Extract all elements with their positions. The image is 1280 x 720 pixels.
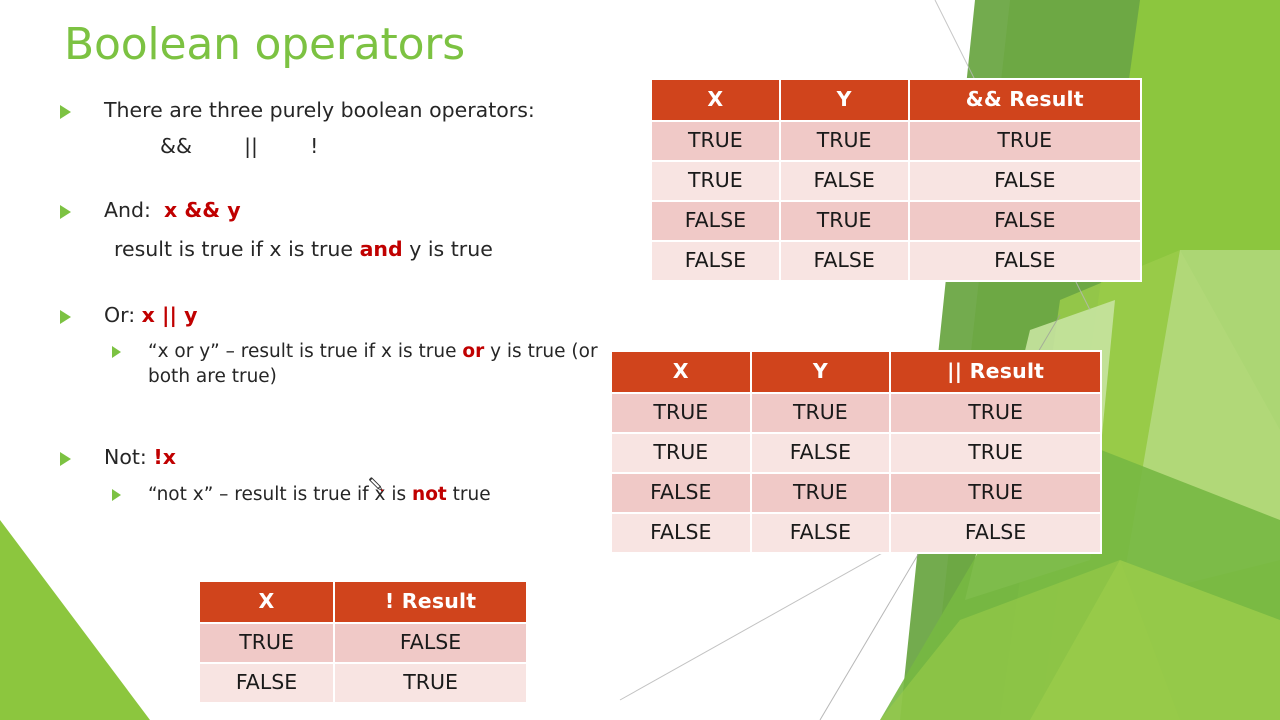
cell-x: TRUE bbox=[612, 434, 750, 472]
table-header-row: X Y && Result bbox=[652, 80, 1140, 120]
or-label: Or: bbox=[104, 303, 135, 327]
and-code: x && y bbox=[164, 198, 241, 222]
table-row: TRUE FALSE FALSE bbox=[652, 162, 1140, 200]
operator-and-symbol: && bbox=[160, 134, 192, 158]
column-header-result: && Result bbox=[910, 80, 1140, 120]
column-header-x: X bbox=[652, 80, 779, 120]
cell-result: FALSE bbox=[335, 624, 526, 662]
bullet-triangle-icon bbox=[60, 96, 86, 119]
cell-y: FALSE bbox=[781, 162, 908, 200]
cell-result: TRUE bbox=[891, 434, 1100, 472]
cell-x: TRUE bbox=[652, 162, 779, 200]
deco-shape-lower-bright bbox=[1030, 560, 1280, 720]
cell-x: TRUE bbox=[612, 394, 750, 432]
cell-x: FALSE bbox=[200, 664, 333, 702]
cell-x: FALSE bbox=[612, 474, 750, 512]
and-truth-table: X Y && Result TRUE TRUE TRUE TRUE FALSE … bbox=[650, 78, 1142, 282]
intro-text: There are three purely boolean operators… bbox=[86, 96, 620, 124]
bullet-and: And: x && y bbox=[60, 196, 620, 224]
not-line: Not: !x bbox=[86, 443, 620, 471]
or-description: “x or y” – result is true if x is true o… bbox=[134, 339, 620, 389]
pen-cursor-icon bbox=[365, 474, 387, 496]
cell-x: FALSE bbox=[652, 202, 779, 240]
or-code: x || y bbox=[142, 303, 198, 327]
operator-or-symbol: || bbox=[244, 134, 258, 158]
table-row: FALSE TRUE FALSE bbox=[652, 202, 1140, 240]
column-header-x: X bbox=[612, 352, 750, 392]
bullet-or: Or: x || y bbox=[60, 301, 620, 329]
cell-y: FALSE bbox=[752, 434, 890, 472]
cell-result: TRUE bbox=[891, 394, 1100, 432]
and-desc-post: y is true bbox=[403, 237, 493, 261]
cell-x: TRUE bbox=[652, 122, 779, 160]
cell-y: TRUE bbox=[781, 202, 908, 240]
not-truth-table: X ! Result TRUE FALSE FALSE TRUE bbox=[198, 580, 528, 704]
slide-body: There are three purely boolean operators… bbox=[60, 96, 620, 507]
or-sub-keyword: or bbox=[462, 341, 484, 362]
cell-result: TRUE bbox=[335, 664, 526, 702]
bullet-triangle-icon bbox=[112, 482, 134, 501]
cell-x: TRUE bbox=[200, 624, 333, 662]
table-row: TRUE FALSE TRUE bbox=[612, 434, 1100, 472]
cell-x: FALSE bbox=[652, 242, 779, 280]
cell-result: FALSE bbox=[891, 514, 1100, 552]
table-row: FALSE FALSE FALSE bbox=[612, 514, 1100, 552]
bullet-triangle-icon bbox=[112, 339, 134, 358]
cell-y: FALSE bbox=[781, 242, 908, 280]
cell-result: TRUE bbox=[891, 474, 1100, 512]
not-code: !x bbox=[153, 445, 176, 469]
deco-shape-lower-light bbox=[880, 560, 1180, 720]
bullet-triangle-icon bbox=[60, 443, 86, 466]
bullet-not: Not: !x bbox=[60, 443, 620, 471]
table-row: TRUE TRUE TRUE bbox=[612, 394, 1100, 432]
table-header-row: X ! Result bbox=[200, 582, 526, 622]
deco-shape-light-2 bbox=[1120, 250, 1280, 600]
cell-result: FALSE bbox=[910, 202, 1140, 240]
not-sub-post: true bbox=[447, 484, 491, 505]
table-row: TRUE FALSE bbox=[200, 624, 526, 662]
and-desc-keyword: and bbox=[360, 237, 403, 261]
column-header-x: X bbox=[200, 582, 333, 622]
or-line: Or: x || y bbox=[86, 301, 620, 329]
bullet-triangle-icon bbox=[60, 196, 86, 219]
and-desc-pre: result is true if x is true bbox=[114, 237, 360, 261]
table-row: FALSE TRUE bbox=[200, 664, 526, 702]
cell-y: TRUE bbox=[752, 394, 890, 432]
operator-not-symbol: ! bbox=[310, 134, 318, 158]
column-header-y: Y bbox=[752, 352, 890, 392]
cell-y: TRUE bbox=[781, 122, 908, 160]
sub-bullet-or: “x or y” – result is true if x is true o… bbox=[112, 339, 620, 389]
deco-shape-bottom-left bbox=[0, 520, 150, 720]
table-row: TRUE TRUE TRUE bbox=[652, 122, 1140, 160]
table-header-row: X Y || Result bbox=[612, 352, 1100, 392]
column-header-y: Y bbox=[781, 80, 908, 120]
table-row: FALSE FALSE FALSE bbox=[652, 242, 1140, 280]
and-label: And: bbox=[104, 198, 151, 222]
column-header-result: ! Result bbox=[335, 582, 526, 622]
bullet-triangle-icon bbox=[60, 301, 86, 324]
and-line: And: x && y bbox=[86, 196, 620, 224]
cell-x: FALSE bbox=[612, 514, 750, 552]
slide-canvas: Boolean operators There are three purely… bbox=[0, 0, 1280, 720]
cell-result: FALSE bbox=[910, 162, 1140, 200]
cell-y: TRUE bbox=[752, 474, 890, 512]
or-sub-pre: “x or y” – result is true if x is true bbox=[148, 341, 462, 362]
not-label: Not: bbox=[104, 445, 147, 469]
and-description: result is true if x is true and y is tru… bbox=[60, 235, 620, 263]
or-truth-table: X Y || Result TRUE TRUE TRUE TRUE FALSE … bbox=[610, 350, 1102, 554]
not-sub-keyword: not bbox=[412, 484, 447, 505]
operators-line: && || ! bbox=[60, 134, 620, 158]
cell-result: TRUE bbox=[910, 122, 1140, 160]
column-header-result: || Result bbox=[891, 352, 1100, 392]
cell-y: FALSE bbox=[752, 514, 890, 552]
cell-result: FALSE bbox=[910, 242, 1140, 280]
bullet-intro: There are three purely boolean operators… bbox=[60, 96, 620, 124]
table-row: FALSE TRUE TRUE bbox=[612, 474, 1100, 512]
slide-title: Boolean operators bbox=[64, 20, 465, 69]
